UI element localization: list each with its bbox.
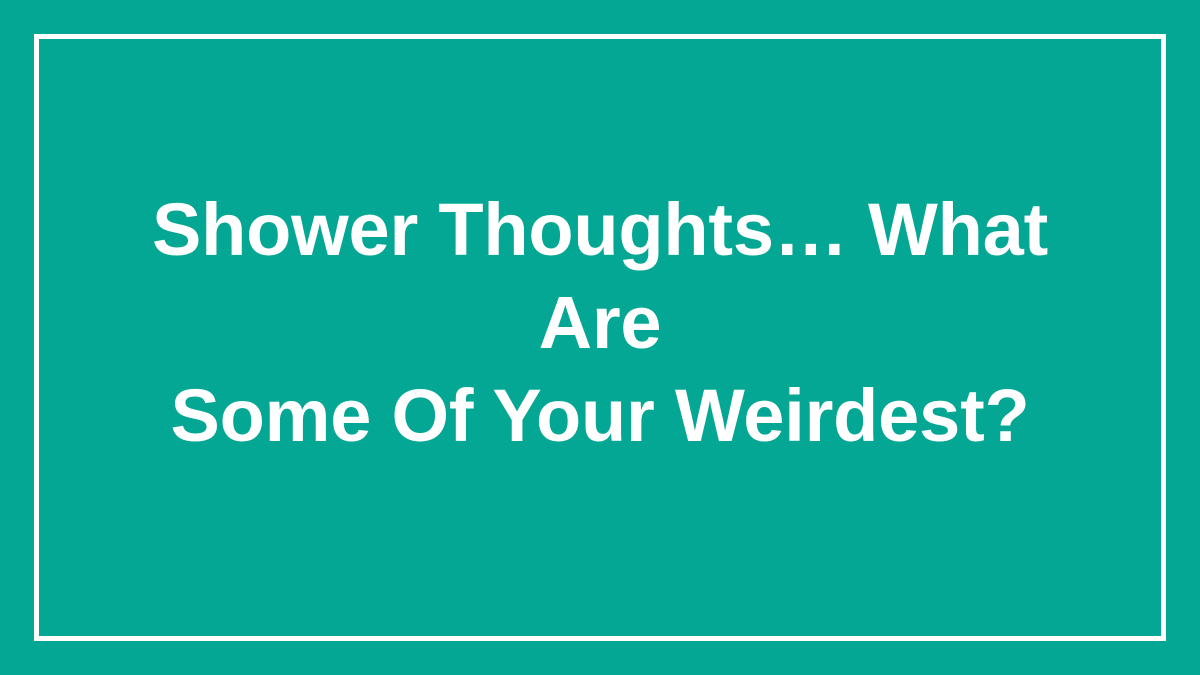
- title-slide: Shower Thoughts… What Are Some Of Your W…: [0, 0, 1200, 675]
- title-container: Shower Thoughts… What Are Some Of Your W…: [34, 34, 1166, 641]
- slide-title: Shower Thoughts… What Are Some Of Your W…: [100, 183, 1100, 462]
